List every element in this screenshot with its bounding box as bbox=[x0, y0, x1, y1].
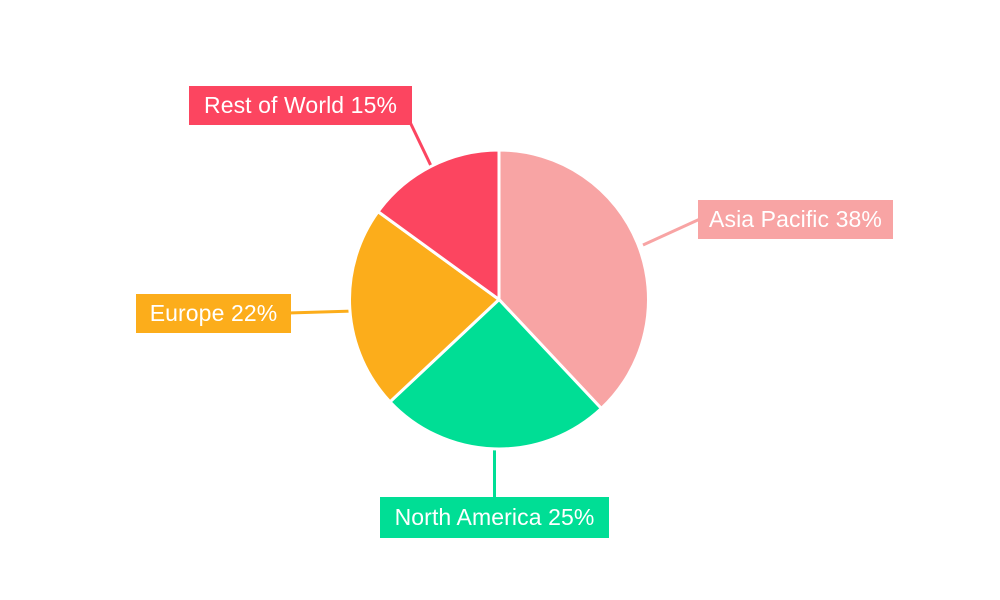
pie-label-north-america[interactable]: North America 25% bbox=[380, 497, 609, 538]
pie-label-rest-of-world[interactable]: Rest of World 15% bbox=[189, 86, 412, 125]
pie-label-europe[interactable]: Europe 22% bbox=[136, 294, 291, 333]
leader-line-europe bbox=[288, 311, 355, 313]
pie-label-asia-pacific[interactable]: Asia Pacific 38% bbox=[698, 200, 893, 239]
pie-slices bbox=[350, 150, 649, 449]
leader-line-asia-pacific bbox=[643, 219, 700, 245]
chart-canvas: Rest of World 15% Asia Pacific 38% Europ… bbox=[0, 0, 1000, 600]
leader-line-rest-of-world bbox=[409, 120, 433, 170]
